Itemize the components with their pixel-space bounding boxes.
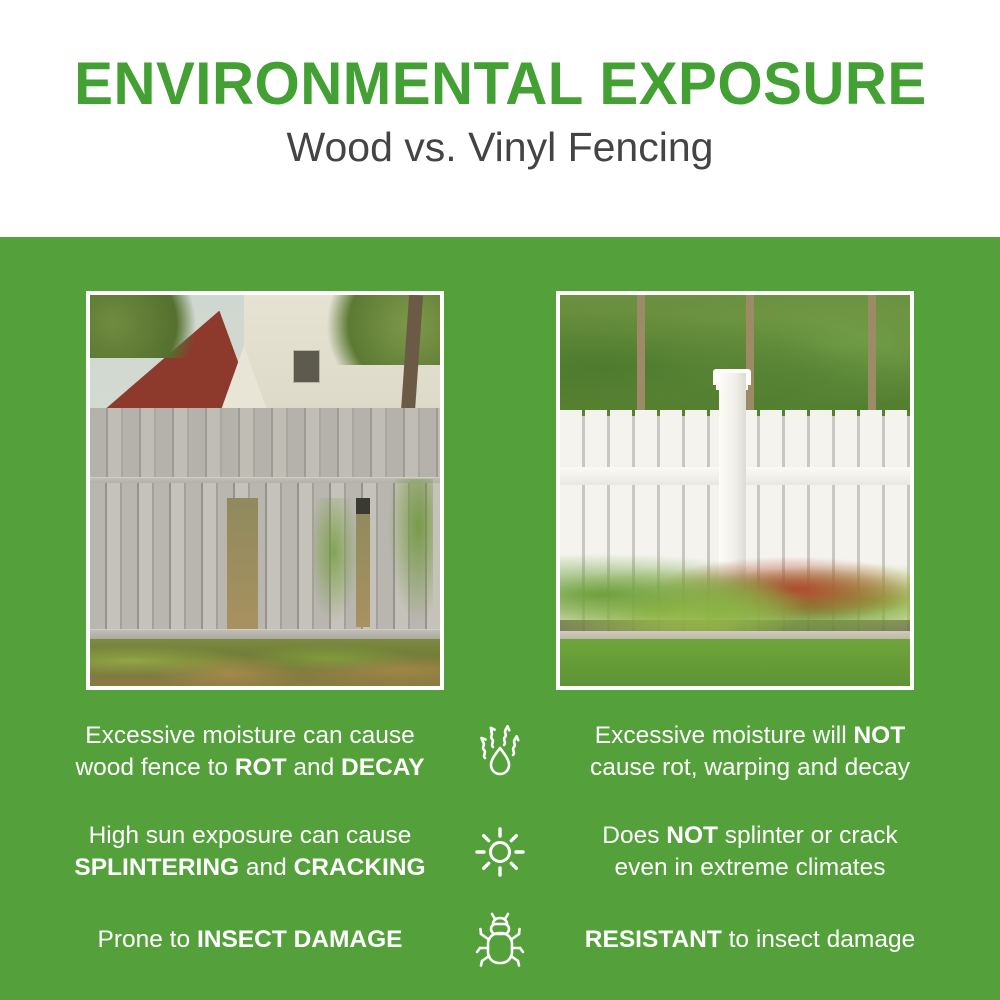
comparison-rows: Excessive moisture can cause wood fence … [0, 709, 1000, 971]
comparison-row-sun: High sun exposure can cause SPLINTERING … [40, 809, 960, 895]
wood-insect-pre: Prone to [98, 926, 197, 953]
vinyl-insect-resistant: RESISTANT [585, 926, 722, 953]
wood-moisture-line1: Excessive moisture can cause [85, 722, 415, 749]
weathered-wood-fence-photo [90, 295, 440, 686]
green-content-panel: Excessive moisture can cause wood fence … [0, 237, 1000, 1000]
vinyl-sun-not: NOT [666, 822, 718, 849]
comparison-row-moisture: Excessive moisture can cause wood fence … [40, 709, 960, 795]
vinyl-moisture-text: Excessive moisture will NOT cause rot, w… [542, 720, 950, 785]
wood-sun-and: and [239, 854, 294, 881]
vinyl-sun-line1-pre: Does [602, 822, 666, 849]
page-subtitle: Wood vs. Vinyl Fencing [287, 125, 714, 170]
wood-fence-photo-frame [86, 291, 444, 690]
wood-insect-damage: INSECT DAMAGE [197, 926, 403, 953]
beetle-bug-icon [458, 912, 542, 968]
wood-moisture-decay: DECAY [341, 754, 425, 781]
header: ENVIRONMENTAL EXPOSURE Wood vs. Vinyl Fe… [0, 0, 1000, 237]
wood-insect-text: Prone to INSECT DAMAGE [50, 924, 458, 956]
wood-sun-splintering: SPLINTERING [74, 854, 239, 881]
vinyl-sun-text: Does NOT splinter or crack even in extre… [542, 820, 950, 885]
wood-moisture-and: and [287, 754, 342, 781]
comparison-row-insects: Prone to INSECT DAMAGE [40, 909, 960, 971]
white-vinyl-fence-photo [560, 295, 910, 686]
vinyl-moisture-line1-pre: Excessive moisture will [595, 722, 854, 749]
humidity-droplet-icon [458, 724, 542, 780]
vinyl-fence-photo-frame [556, 291, 914, 690]
vinyl-sun-line2: even in extreme climates [615, 854, 886, 881]
wood-sun-cracking: CRACKING [294, 854, 426, 881]
vinyl-moisture-line2: cause rot, warping and decay [590, 754, 910, 781]
vinyl-insect-text: RESISTANT to insect damage [542, 924, 950, 956]
vinyl-insect-post: to insect damage [722, 926, 915, 953]
sun-icon [458, 824, 542, 880]
wood-moisture-text: Excessive moisture can cause wood fence … [50, 720, 458, 785]
vinyl-moisture-not: NOT [853, 722, 905, 749]
page-title: ENVIRONMENTAL EXPOSURE [74, 52, 927, 115]
wood-moisture-line2-pre: wood fence to [75, 754, 234, 781]
wood-sun-text: High sun exposure can cause SPLINTERING … [50, 820, 458, 885]
wood-sun-line1: High sun exposure can cause [89, 822, 412, 849]
photo-comparison-row [0, 291, 1000, 690]
vinyl-sun-line1-post: splinter or crack [718, 822, 898, 849]
wood-moisture-rot: ROT [235, 754, 287, 781]
